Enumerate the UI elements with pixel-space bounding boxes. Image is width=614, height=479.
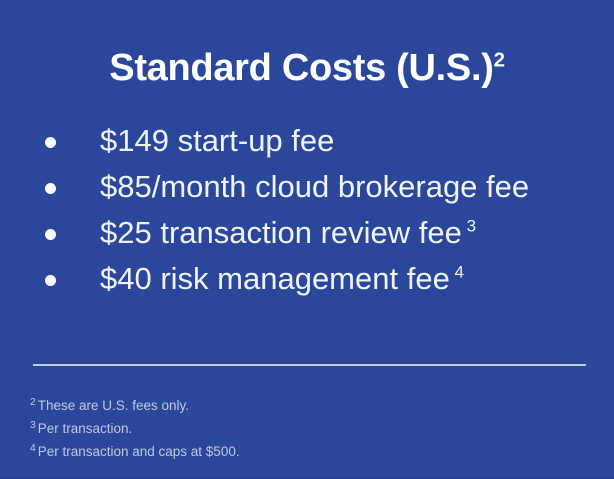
list-item: $85/month cloud brokerage fee	[30, 164, 610, 210]
bullet-dot-icon	[45, 275, 56, 286]
footnote-text: These are U.S. fees only.	[38, 398, 189, 413]
footnote-block: 2These are U.S. fees only. 3Per transact…	[30, 394, 590, 463]
bullet-dot-icon	[45, 137, 56, 148]
list-item-label: $149 start-up fee	[100, 123, 334, 158]
cost-bullet-list: $149 start-up fee $85/month cloud broker…	[30, 118, 610, 302]
list-item-label: $85/month cloud brokerage fee	[100, 169, 529, 204]
bullet-dot-icon	[45, 229, 56, 240]
slide-canvas: Standard Costs (U.S.)2 $149 start-up fee…	[0, 0, 614, 479]
footnote-divider	[33, 364, 586, 366]
footnote-text: Per transaction.	[38, 421, 133, 436]
list-item-footnote-ref: 4	[450, 263, 464, 282]
list-item-footnote-ref: 3	[462, 217, 476, 236]
list-item-text: $25 transaction review fee	[100, 215, 462, 250]
page-title-footnote-ref: 2	[494, 49, 505, 72]
footnote-entry: 2These are U.S. fees only.	[30, 394, 590, 417]
footnote-marker: 3	[30, 420, 36, 431]
footnote-text: Per transaction and caps at $500.	[38, 444, 240, 459]
footnote-entry: 4Per transaction and caps at $500.	[30, 440, 590, 463]
list-item-text: $149 start-up fee	[100, 123, 334, 158]
list-item-label: $25 transaction review fee3	[100, 215, 476, 250]
page-title-text: Standard Costs (U.S.)	[109, 47, 493, 89]
footnote-marker: 4	[30, 443, 36, 454]
page-title: Standard Costs (U.S.)2	[0, 45, 614, 91]
bullet-dot-icon	[45, 183, 56, 194]
footnote-marker: 2	[30, 397, 36, 408]
list-item-text: $85/month cloud brokerage fee	[100, 169, 529, 204]
list-item-text: $40 risk management fee	[100, 261, 450, 296]
list-item: $25 transaction review fee3	[30, 210, 610, 256]
list-item: $149 start-up fee	[30, 118, 610, 164]
list-item: $40 risk management fee4	[30, 256, 610, 302]
footnote-entry: 3Per transaction.	[30, 417, 590, 440]
list-item-label: $40 risk management fee4	[100, 261, 464, 296]
